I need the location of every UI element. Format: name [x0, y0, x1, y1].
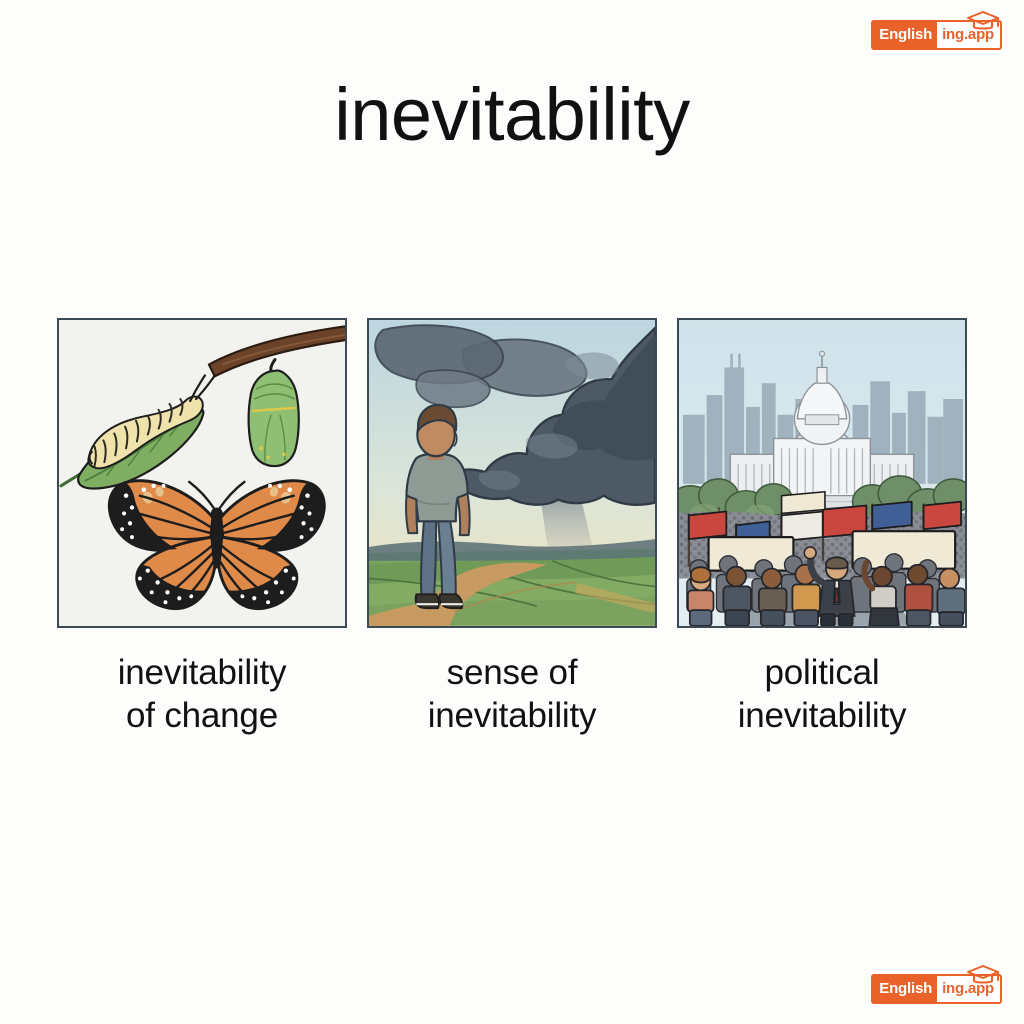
- panel-item-3: political inevitability: [677, 318, 967, 737]
- illustration-butterfly-life-cycle[interactable]: [57, 318, 347, 628]
- brand-logo-bottom[interactable]: English ing.app: [871, 976, 1002, 1002]
- brand-name-left: English: [873, 22, 937, 48]
- graduation-cap-icon: [966, 10, 1000, 32]
- brand-name-left-bottom: English: [873, 976, 937, 1002]
- panel-caption-2: sense of inevitability: [428, 652, 597, 737]
- illustration-storm-approaching[interactable]: [367, 318, 657, 628]
- panel-item-1: inevitability of change: [57, 318, 347, 737]
- illustration-panels: inevitability of change: [57, 318, 967, 737]
- panel-item-2: sense of inevitability: [367, 318, 657, 737]
- page-title: inevitability: [0, 78, 1024, 152]
- panel-caption-3: political inevitability: [738, 652, 907, 737]
- brand-logo-top[interactable]: English ing.app: [871, 22, 1002, 48]
- panel-caption-1: inevitability of change: [118, 652, 287, 737]
- graduation-cap-icon-bottom: [966, 964, 1000, 986]
- illustration-political-march[interactable]: [677, 318, 967, 628]
